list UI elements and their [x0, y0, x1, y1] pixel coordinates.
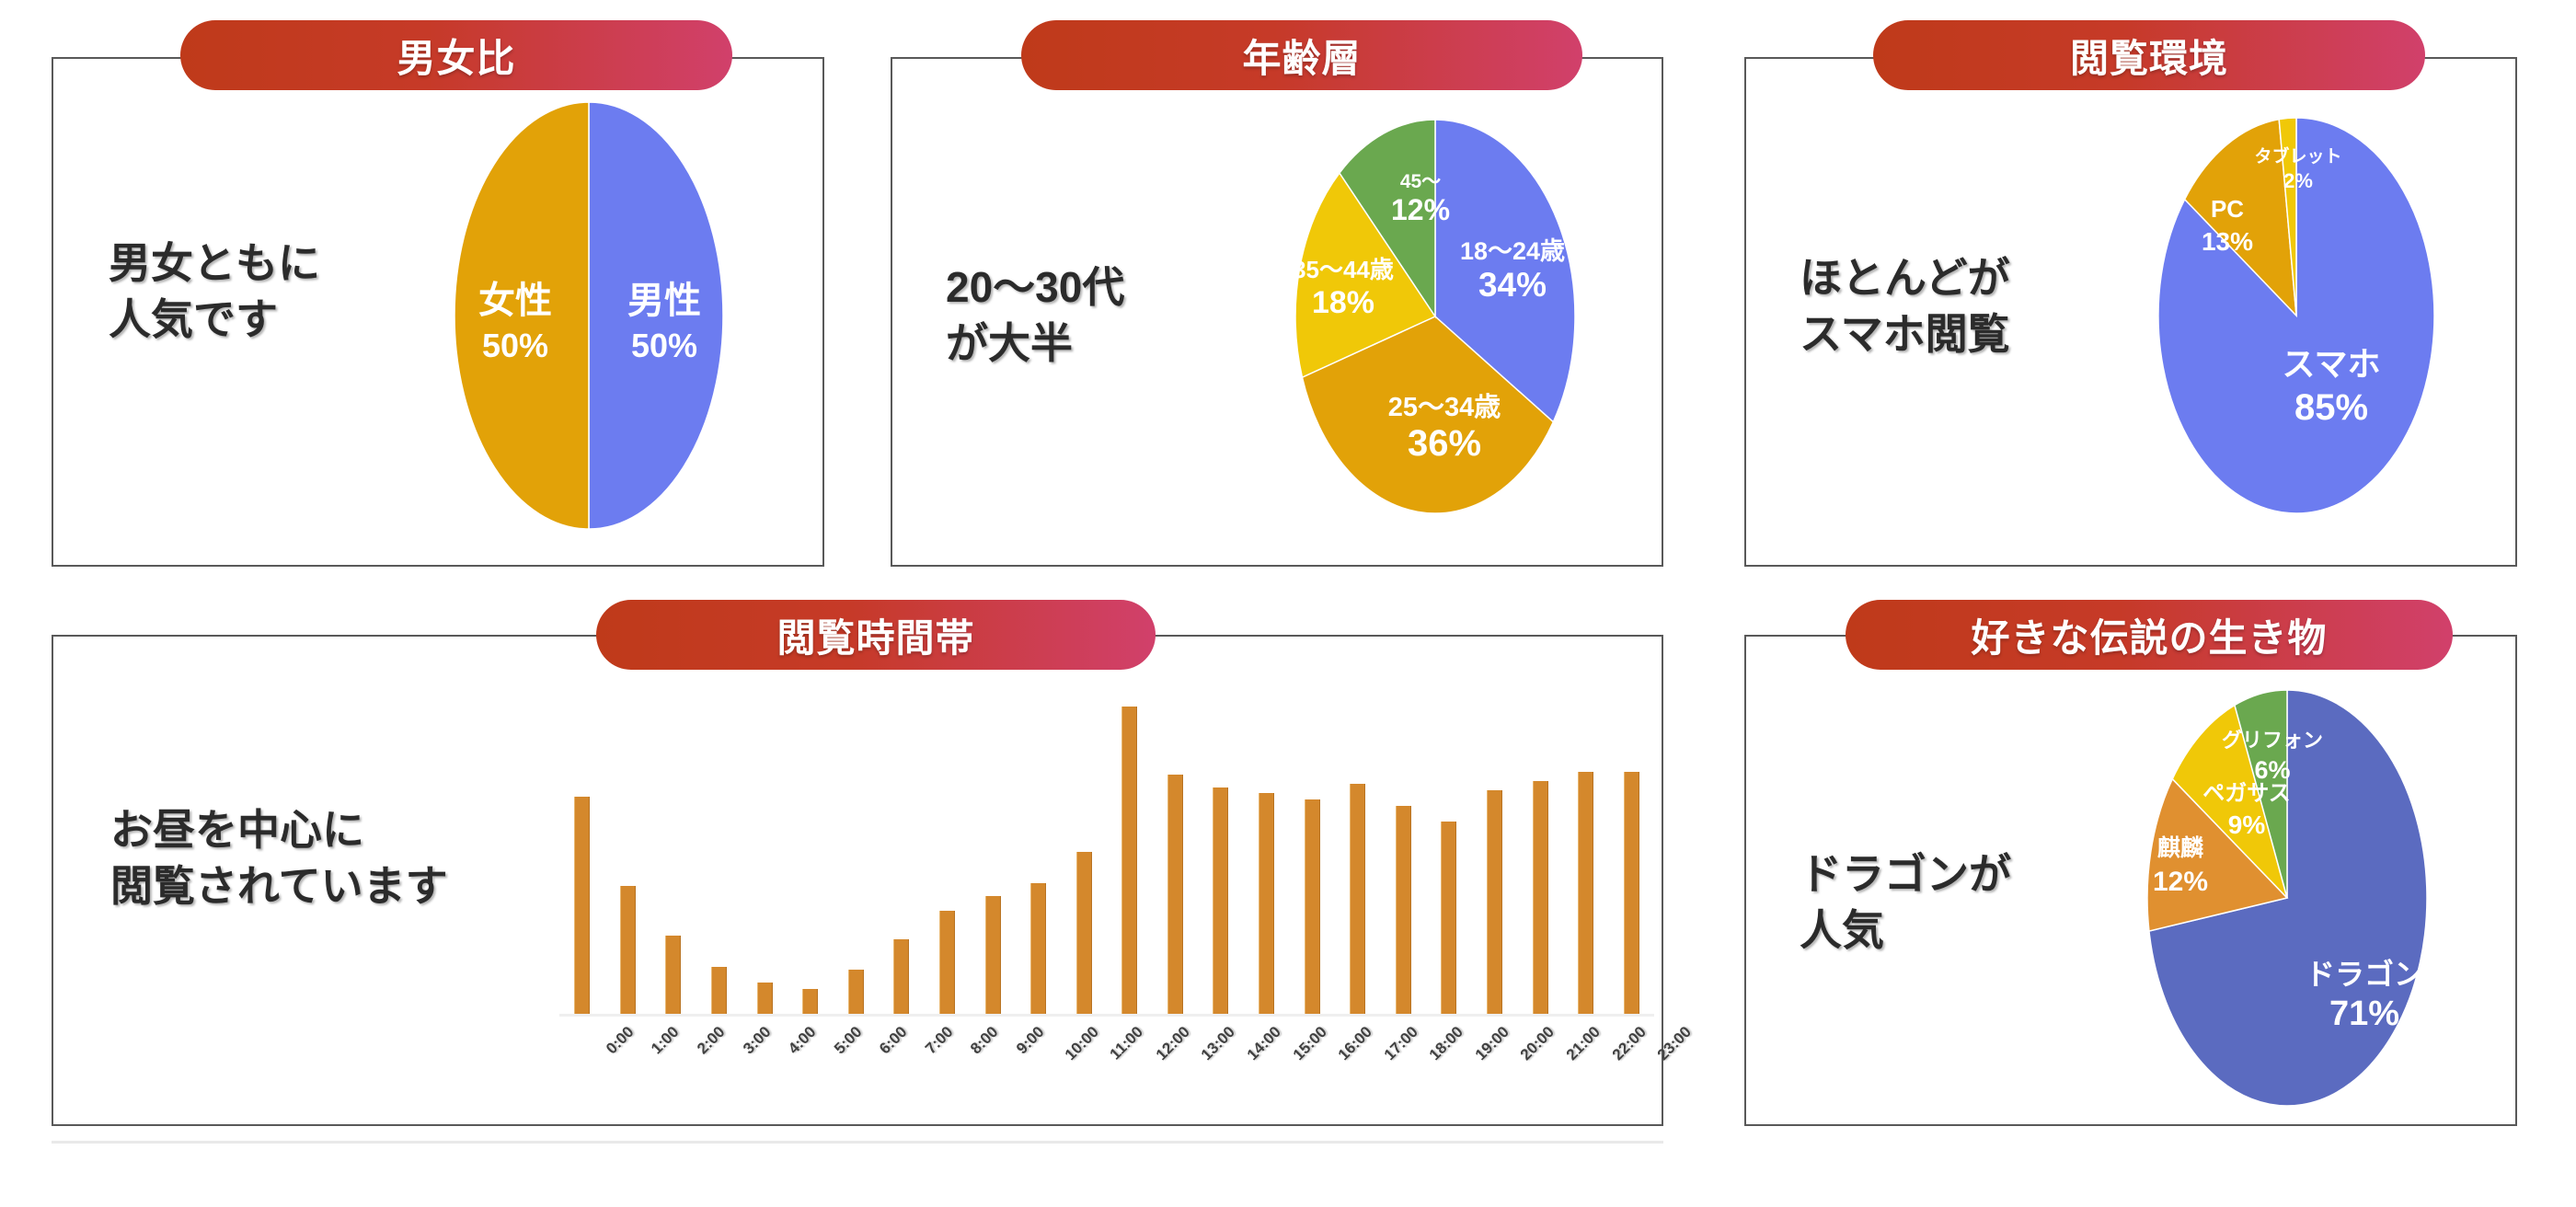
x-axis-tick: 4:00 — [785, 1023, 820, 1058]
panel-caption-gender: 男女ともに 人気です — [109, 236, 412, 347]
bar — [1533, 781, 1548, 1017]
panel-title-gender-label: 男女比 — [397, 28, 515, 84]
bar — [1487, 790, 1502, 1017]
pie-device: スマホ85%PC13%タブレット2% — [2103, 109, 2490, 521]
pie-gender: 男性50%女性50% — [368, 99, 810, 532]
bar — [848, 970, 864, 1017]
bar — [1030, 883, 1046, 1017]
bar — [1076, 852, 1092, 1017]
bar — [893, 939, 909, 1017]
pie-creature: ドラゴン71%麒麟12%ペガサス9%グリフォン6% — [2088, 681, 2493, 1113]
panel-caption-hours: お昼を中心に 閲覧されています — [110, 802, 543, 914]
bar — [665, 936, 681, 1017]
pie-creature-slices — [2147, 690, 2427, 1106]
x-axis-tick: 8:00 — [967, 1023, 1002, 1058]
infographic-dashboard: 男女比 男女ともに 人気です 男性50%女性50% 年齢層 20〜30代 が大半… — [0, 0, 2576, 1207]
panel-title-hours-label: 閲覧時間帯 — [776, 607, 974, 663]
bar — [1213, 787, 1228, 1017]
chart-creature: ドラゴン71%麒麟12%ペガサス9%グリフォン6% — [2088, 681, 2493, 1113]
chart-hours — [559, 699, 1654, 1017]
x-axis-tick: 3:00 — [739, 1023, 774, 1058]
chart-device: スマホ85%PC13%タブレット2% — [2103, 109, 2490, 521]
bar — [1259, 793, 1274, 1017]
panel-caption-device: ほとんどが スマホ閲覧 — [1800, 250, 2112, 362]
x-axis-tick: 2:00 — [694, 1023, 729, 1058]
x-axis-tick: 16:00 — [1335, 1023, 1376, 1064]
panel-caption-creature: ドラゴンが 人気 — [1800, 846, 2112, 958]
panel-title-creature-label: 好きな伝説の生き物 — [1971, 607, 2327, 663]
bar — [757, 983, 773, 1017]
bar-series — [559, 699, 1654, 1017]
bar — [802, 989, 818, 1017]
chart-age: 18〜24歳34%25〜34歳36%35〜44歳18%45〜12% — [1240, 112, 1636, 528]
bar — [1396, 806, 1411, 1017]
panel-title-device-label: 閲覧環境 — [2070, 28, 2228, 84]
bar — [1441, 822, 1456, 1017]
bar — [1578, 772, 1593, 1017]
x-axis-tick: 18:00 — [1426, 1023, 1467, 1064]
x-axis-tick: 10:00 — [1061, 1023, 1102, 1064]
x-axis-tick-labels: 0:001:002:003:004:005:006:007:008:009:00… — [559, 1023, 1654, 1106]
bar — [1121, 707, 1137, 1017]
x-axis-tick: 14:00 — [1244, 1023, 1285, 1064]
x-axis-tick: 15:00 — [1289, 1023, 1330, 1064]
pie-age: 18〜24歳34%25〜34歳36%35〜44歳18%45〜12% — [1240, 112, 1636, 528]
x-axis-tick: 5:00 — [831, 1023, 866, 1058]
bar — [620, 886, 636, 1017]
bar — [939, 911, 955, 1017]
panel-title-gender: 男女比 — [180, 20, 732, 90]
panel-title-hours: 閲覧時間帯 — [596, 600, 1156, 670]
bar — [711, 967, 727, 1017]
x-axis-tick: 12:00 — [1153, 1023, 1194, 1064]
footer-divider — [52, 1141, 1663, 1144]
x-axis-tick: 6:00 — [876, 1023, 911, 1058]
x-axis-tick: 21:00 — [1563, 1023, 1604, 1064]
bar — [1350, 784, 1365, 1017]
panel-title-creature: 好きな伝説の生き物 — [1846, 600, 2453, 670]
x-axis-tick: 20:00 — [1517, 1023, 1558, 1064]
bar — [1167, 775, 1183, 1017]
x-axis-line — [559, 1014, 1654, 1017]
bar — [574, 797, 590, 1017]
bar — [1305, 799, 1320, 1017]
x-axis-tick: 11:00 — [1107, 1023, 1147, 1063]
panel-title-age-label: 年齢層 — [1242, 28, 1361, 84]
chart-gender: 男性50%女性50% — [368, 99, 810, 532]
panel-caption-age: 20〜30代 が大半 — [946, 259, 1249, 371]
x-axis-tick: 0:00 — [603, 1023, 638, 1058]
x-axis-tick: 9:00 — [1013, 1023, 1048, 1058]
x-axis-tick: 1:00 — [648, 1023, 683, 1058]
x-axis-tick: 19:00 — [1472, 1023, 1513, 1064]
bar — [1624, 772, 1639, 1017]
x-axis-tick: 17:00 — [1380, 1023, 1421, 1064]
panel-title-age: 年齢層 — [1021, 20, 1582, 90]
bar — [985, 896, 1001, 1017]
panel-title-device: 閲覧環境 — [1873, 20, 2425, 90]
x-axis-tick: 22:00 — [1608, 1023, 1650, 1064]
x-axis-tick: 13:00 — [1198, 1023, 1239, 1064]
x-axis-tick: 7:00 — [922, 1023, 957, 1058]
